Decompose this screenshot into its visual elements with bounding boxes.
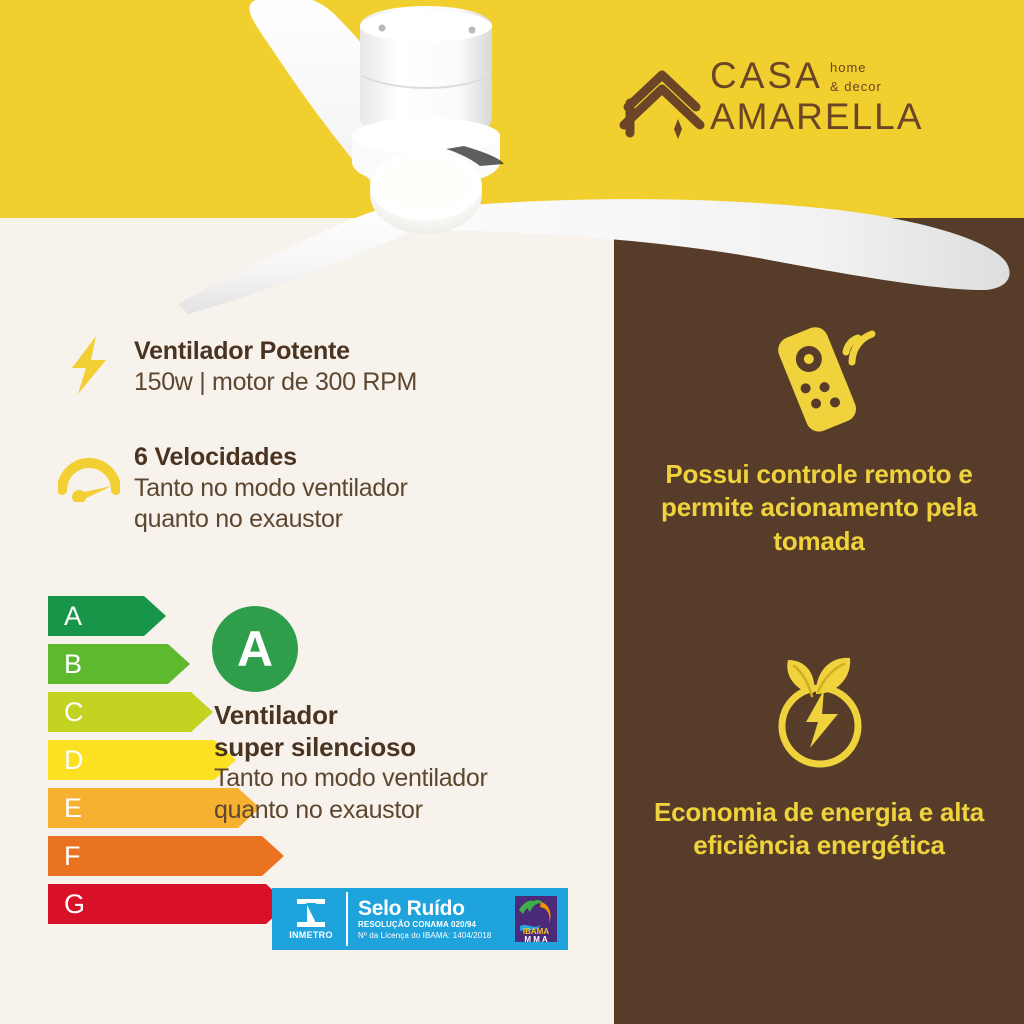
energy-bar-letter: D <box>64 747 84 774</box>
inmetro-label: INMETRO <box>289 930 333 940</box>
energy-rating-letter: A <box>237 624 273 674</box>
energy-bar-letter: A <box>64 603 82 630</box>
sparkle-icon <box>674 119 682 139</box>
silent-title-line1: Ventilador <box>214 700 564 732</box>
inmetro-logo: INMETRO <box>276 892 348 946</box>
lightning-bolt-icon <box>58 334 120 396</box>
energy-bar-arrow <box>144 596 166 636</box>
remote-control-icon <box>614 320 1024 440</box>
feature-desc: 150w | motor de 300 RPM <box>134 367 417 398</box>
energy-bar-f: F <box>48 836 288 876</box>
feature-desc-line2: quanto no exaustor <box>134 504 408 535</box>
panel-block-economia-energia: Economia de energia e alta eficiência en… <box>614 648 1024 863</box>
brand-tagline-line2: & decor <box>830 78 882 97</box>
energy-bar-body: B <box>48 644 168 684</box>
brand-tagline: home & decor <box>830 59 882 97</box>
silent-desc-line1: Tanto no modo ventilador <box>214 763 564 794</box>
feature-title: Ventilador Potente <box>134 336 417 367</box>
selo-license: Nº da Licença do IBAMA: 1404/2018 <box>358 931 508 942</box>
infographic-page: CASA AMARELLA home & decor Ventilador Po… <box>0 0 1024 1024</box>
feature-title: 6 Velocidades <box>134 442 408 473</box>
panel-block-text: Economia de energia e alta eficiência en… <box>614 796 1024 863</box>
energy-bar-body: D <box>48 740 214 780</box>
energy-bar-letter: B <box>64 651 82 678</box>
eco-energy-leaf-icon <box>614 648 1024 778</box>
feature-super-silencioso: Ventilador super silencioso Tanto no mod… <box>214 700 564 826</box>
feature-6-velocidades: 6 Velocidades Tanto no modo ventilador q… <box>58 440 408 535</box>
ibama-mma-logo-icon: IBAMA M M A <box>508 892 564 946</box>
panel-block-text: Possui controle remoto e permite acionam… <box>614 458 1024 558</box>
energy-bar-letter: F <box>64 843 81 870</box>
inmetro-i-beam-icon <box>294 898 328 928</box>
energy-bar-arrow <box>168 644 190 684</box>
brand-name-line2: AMARELLA <box>710 96 950 137</box>
panel-block-remote-control: Possui controle remoto e permite acionam… <box>614 320 1024 558</box>
energy-bar-letter: G <box>64 891 85 918</box>
energy-bar-body: E <box>48 788 238 828</box>
selo-title: Selo Ruído <box>358 898 508 920</box>
ibama-sub: M M A <box>524 935 547 944</box>
energy-bar-arrow <box>191 692 213 732</box>
energy-bar-body: A <box>48 596 144 636</box>
speedometer-icon <box>58 440 120 502</box>
energy-bar-letter: E <box>64 795 82 822</box>
feature-ventilador-potente: Ventilador Potente 150w | motor de 300 R… <box>58 334 417 398</box>
energy-bar-arrow <box>262 836 284 876</box>
energy-rating-badge-a: A <box>212 606 298 692</box>
selo-resolution: RESOLUÇÃO CONAMA 020/94 <box>358 920 508 931</box>
selo-ruido-badge: INMETRO Selo Ruído RESOLUÇÃO CONAMA 020/… <box>272 888 568 950</box>
feature-desc-line1: Tanto no modo ventilador <box>134 473 408 504</box>
energy-bar-g: G <box>48 884 288 924</box>
brand-logo: CASA AMARELLA home & decor <box>618 55 948 165</box>
house-roof-icon <box>618 55 710 147</box>
energy-bar-body: C <box>48 692 191 732</box>
selo-text-block: Selo Ruído RESOLUÇÃO CONAMA 020/94 Nº da… <box>348 892 508 946</box>
energy-bar-body: F <box>48 836 262 876</box>
brand-tagline-line1: home <box>830 59 882 78</box>
energy-bar-letter: C <box>64 699 84 726</box>
silent-desc-line2: quanto no exaustor <box>214 795 564 826</box>
silent-title-line2: super silencioso <box>214 732 564 764</box>
energy-bar-body: G <box>48 884 266 924</box>
